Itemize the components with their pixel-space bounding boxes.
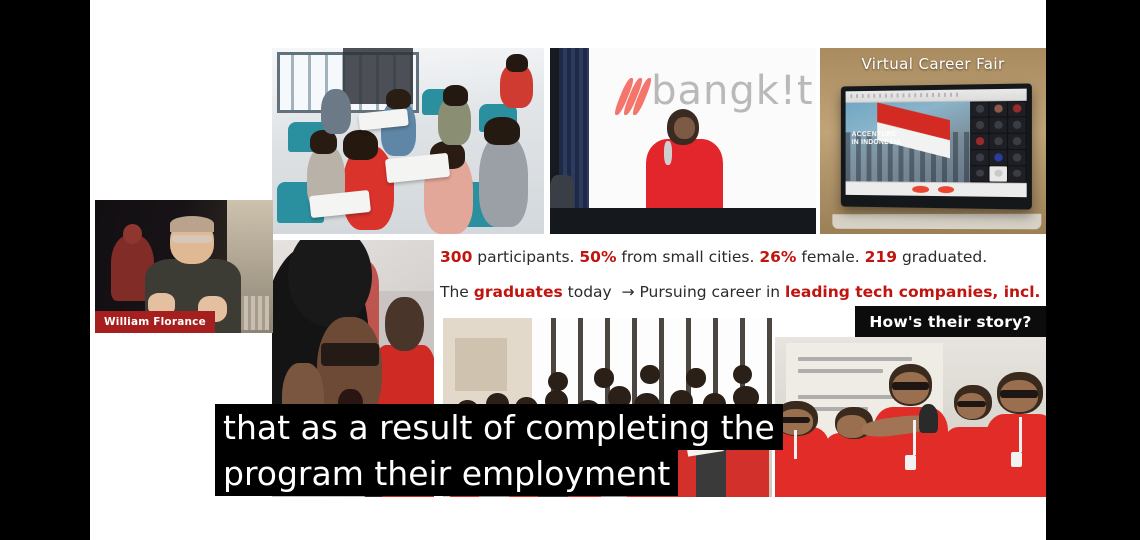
virtual-career-fair-title: Virtual Career Fair	[820, 55, 1046, 73]
accenture-headline-line1: ACCENTURE	[852, 131, 897, 138]
caption-line-2: program their employment	[215, 450, 678, 496]
classroom-discussion-photo	[272, 48, 544, 234]
speaker-name-tag: William Florance	[95, 311, 215, 333]
group-panel-photo	[775, 337, 1046, 497]
bangkit-stage-photo: bangk!t	[550, 48, 816, 234]
letterbox-right	[1046, 0, 1140, 540]
speaker-video-tile[interactable]: William Florance	[95, 200, 273, 333]
caption-line-1: that as a result of completing the	[215, 404, 783, 450]
story-banner: How's their story?	[855, 306, 1046, 338]
accenture-headline-line2: IN INDONESIA	[852, 139, 902, 146]
presentation-slide: bangk!t Virtual Career Fair	[90, 0, 1046, 540]
bangkit-wordmark: bangk!t	[651, 68, 814, 114]
closed-captions: that as a result of completing the progr…	[215, 404, 783, 496]
stats-line-graduates: The graduates today → Pursuing career in…	[440, 283, 1046, 301]
speaker-name-text: William Florance	[104, 316, 206, 328]
program-stats-block: 300 participants. 50% from small cities.…	[440, 240, 1046, 312]
screen-recording-frame: bangk!t Virtual Career Fair	[0, 0, 1140, 540]
virtual-career-fair-photo: Virtual Career Fair ACCENTURE IN INDONES…	[820, 48, 1046, 234]
story-banner-text: How's their story?	[869, 313, 1031, 331]
letterbox-left	[0, 0, 90, 540]
bangkit-logo-mark	[619, 78, 648, 115]
stats-line-participants: 300 participants. 50% from small cities.…	[440, 248, 987, 266]
video-participant-grid	[971, 101, 1027, 183]
